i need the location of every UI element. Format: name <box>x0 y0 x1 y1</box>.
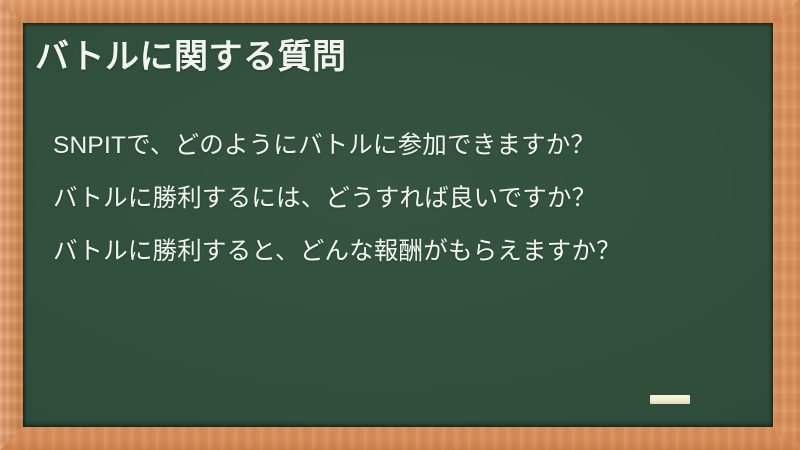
question-list: SNPITで、どのようにバトルに参加できますか？ バトルに勝利するには、どうすれ… <box>53 119 759 278</box>
question-item-3: バトルに勝利すると、どんな報酬がもらえますか？ <box>53 225 759 278</box>
slide-title: バトルに関する質問 <box>35 34 347 80</box>
frame-right-plank <box>773 0 800 450</box>
frame-bottom-plank <box>0 427 800 450</box>
chalkboard-surface: バトルに関する質問 SNPITで、どのようにバトルに参加できますか？ バトルに勝… <box>23 23 773 427</box>
chalkboard-slide: バトルに関する質問 SNPITで、どのようにバトルに参加できますか？ バトルに勝… <box>0 0 800 450</box>
frame-left-plank <box>0 0 23 450</box>
question-item-1: SNPITで、どのようにバトルに参加できますか？ <box>53 119 759 172</box>
question-item-2: バトルに勝利するには、どうすれば良いですか？ <box>53 172 759 225</box>
frame-top-plank <box>0 0 800 23</box>
chalk-stick-icon <box>650 395 690 404</box>
